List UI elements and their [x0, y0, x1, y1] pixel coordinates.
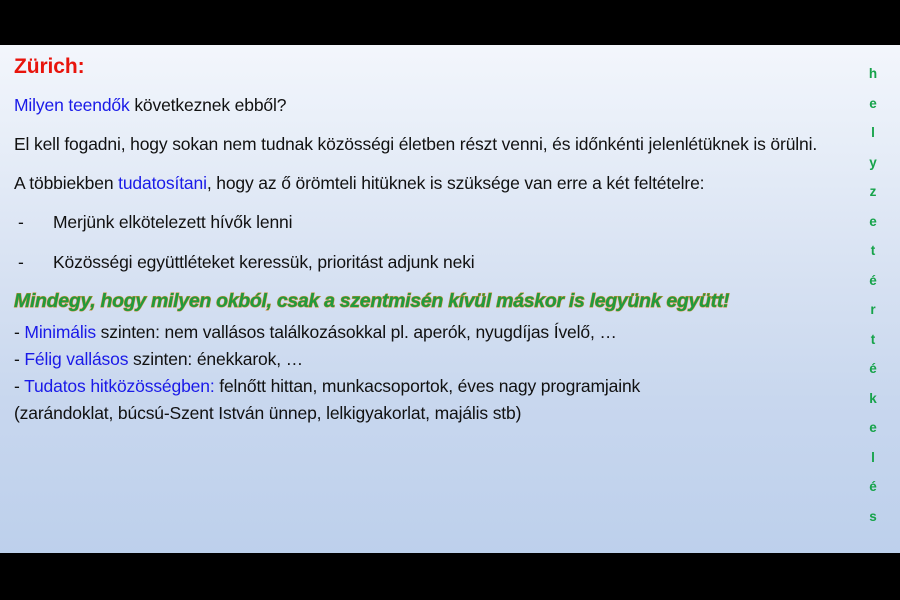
dash-marker: -	[14, 248, 53, 277]
list-item: - Közösségi együttléteket keressük, prio…	[14, 248, 824, 277]
closing-line: (zarándoklat, búcsú-Szent István ünnep, …	[14, 400, 824, 427]
level-rest: szinten: nem vallásos találkozásokkal pl…	[96, 322, 617, 342]
side-label-letter: y	[856, 148, 890, 178]
side-label-letter: r	[856, 295, 890, 325]
side-label-letter: e	[856, 89, 890, 119]
side-label-letter: e	[856, 207, 890, 237]
level-dash: -	[14, 376, 24, 396]
page-title: Zürich:	[14, 53, 824, 81]
slide-canvas: Zürich: Milyen teendők következnek ebből…	[0, 45, 900, 553]
list-item: - Merjünk elkötelezett hívők lenni	[14, 208, 824, 237]
side-label-letter: t	[856, 325, 890, 355]
side-label-letter: k	[856, 384, 890, 414]
slide-content: Zürich: Milyen teendők következnek ebből…	[14, 53, 824, 427]
side-label-letter: é	[856, 266, 890, 296]
side-label-letter: s	[856, 502, 890, 532]
side-label-letter: z	[856, 177, 890, 207]
level-rest: szinten: énekkarok, …	[128, 349, 303, 369]
level-item-minimal: - Minimális szinten: nem vallásos találk…	[14, 319, 824, 346]
question-highlight: Milyen teendők	[14, 95, 130, 115]
level-highlight: Félig vallásos	[24, 349, 128, 369]
level-dash: -	[14, 322, 24, 342]
slide-root: Zürich: Milyen teendők következnek ebből…	[0, 0, 900, 600]
level-item-semi-religious: - Félig vallásos szinten: énekkarok, …	[14, 346, 824, 373]
level-dash: -	[14, 349, 24, 369]
question-rest: következnek ebből?	[130, 95, 287, 115]
side-label-letter: l	[856, 118, 890, 148]
side-label-letter: é	[856, 472, 890, 502]
list-item-label: Merjünk elkötelezett hívők lenni	[53, 208, 292, 237]
side-label-letter: é	[856, 354, 890, 384]
letterbox-top-bar	[0, 0, 900, 45]
paragraph-1: El kell fogadni, hogy sokan nem tudnak k…	[14, 130, 824, 159]
dash-marker: -	[14, 208, 53, 237]
side-label-letter: e	[856, 413, 890, 443]
level-highlight: Tudatos hitközösségben:	[24, 376, 214, 396]
level-highlight: Minimális	[24, 322, 96, 342]
vertical-side-label: helyzetértékelés	[856, 59, 890, 531]
level-rest: felnőtt hittan, munkacsoportok, éves nag…	[215, 376, 641, 396]
paragraph-2-before: A többiekben	[14, 173, 118, 193]
side-label-letter: t	[856, 236, 890, 266]
paragraph-2: A többiekben tudatosítani, hogy az ő örö…	[14, 169, 824, 198]
emphasis-banner: Mindegy, hogy milyen okból, csak a szent…	[14, 288, 824, 314]
question-line: Milyen teendők következnek ebből?	[14, 91, 824, 120]
list-item-label: Közösségi együttléteket keressük, priori…	[53, 248, 475, 277]
side-label-letter: h	[856, 59, 890, 89]
level-item-conscious-community: - Tudatos hitközösségben: felnőtt hittan…	[14, 373, 824, 400]
paragraph-2-after: , hogy az ő örömteli hitüknek is szükség…	[207, 173, 705, 193]
letterbox-bottom-bar	[0, 553, 900, 600]
side-label-letter: l	[856, 443, 890, 473]
paragraph-2-highlight: tudatosítani	[118, 173, 207, 193]
